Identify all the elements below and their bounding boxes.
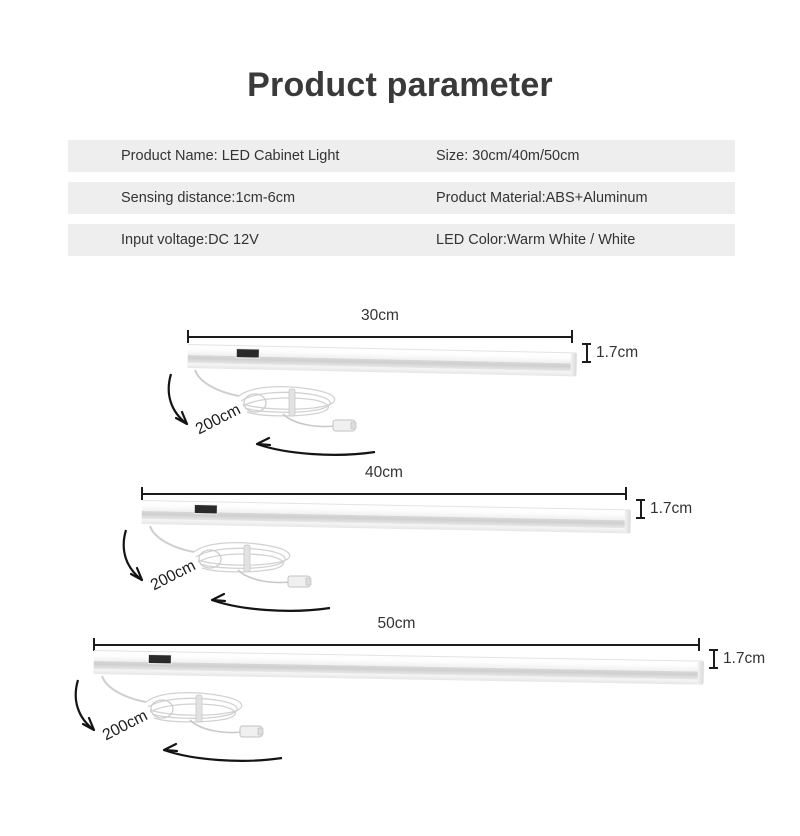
sensor-window-icon: [236, 348, 260, 359]
spec-led-color: LED Color:Warm White / White: [436, 232, 635, 248]
dimension-tick-left: [141, 487, 143, 500]
dimension-line-bar: [187, 336, 573, 338]
height-marker-40cm: 1.7cm: [636, 499, 692, 519]
dimension-line-30cm: 30cm: [187, 330, 573, 343]
sensor-window-icon: [148, 654, 172, 664]
dimension-line-40cm: 40cm: [141, 487, 627, 500]
spec-table: Product Name: LED Cabinet Light Size: 30…: [68, 140, 735, 266]
spec-sensing-distance: Sensing distance:1cm-6cm: [121, 190, 436, 206]
height-marker-30cm: 1.7cm: [582, 343, 638, 363]
sensor-window-icon: [194, 504, 218, 514]
height-ibeam-icon: [582, 343, 591, 363]
dimension-line-bar: [93, 644, 700, 646]
cable-assembly-30cm: 200cm: [165, 368, 395, 458]
spec-size: Size: 30cm/40m/50cm: [436, 148, 579, 164]
bar-end-cap: [570, 352, 577, 376]
dimension-tick-right: [571, 330, 573, 343]
page-title: Product parameter: [0, 66, 800, 105]
bar-end-cap: [697, 661, 703, 685]
height-marker-50cm: 1.7cm: [709, 649, 765, 669]
height-ibeam-icon: [636, 499, 645, 519]
cable-graphic: [165, 368, 395, 458]
height-label-50cm: 1.7cm: [723, 650, 765, 668]
dimension-tick-right: [698, 638, 700, 651]
spec-product-name: Product Name: LED Cabinet Light: [121, 148, 436, 164]
dimension-tick-left: [187, 330, 189, 343]
height-label-40cm: 1.7cm: [650, 500, 692, 518]
cable-graphic: [120, 524, 350, 614]
spec-input-voltage: Input voltage:DC 12V: [121, 232, 436, 248]
cable-assembly-40cm: 200cm: [120, 524, 350, 614]
dimension-line-bar: [141, 493, 627, 495]
table-row: Sensing distance:1cm-6cm Product Materia…: [68, 182, 735, 214]
height-ibeam-icon: [709, 649, 718, 669]
length-label-50cm: 50cm: [93, 615, 700, 633]
spec-product-material: Product Material:ABS+Aluminum: [436, 190, 648, 206]
cable-assembly-50cm: 200cm: [72, 674, 302, 764]
table-row: Input voltage:DC 12V LED Color:Warm Whit…: [68, 224, 735, 256]
bar-end-cap: [624, 509, 630, 533]
length-label-40cm: 40cm: [141, 464, 627, 482]
length-label-30cm: 30cm: [187, 307, 573, 325]
product-parameter-page: Product parameter Product Name: LED Cabi…: [0, 0, 800, 836]
table-row: Product Name: LED Cabinet Light Size: 30…: [68, 140, 735, 172]
dimension-tick-right: [625, 487, 627, 500]
dimension-line-50cm: 50cm: [93, 638, 700, 651]
cable-graphic: [72, 674, 302, 764]
height-label-30cm: 1.7cm: [596, 344, 638, 362]
